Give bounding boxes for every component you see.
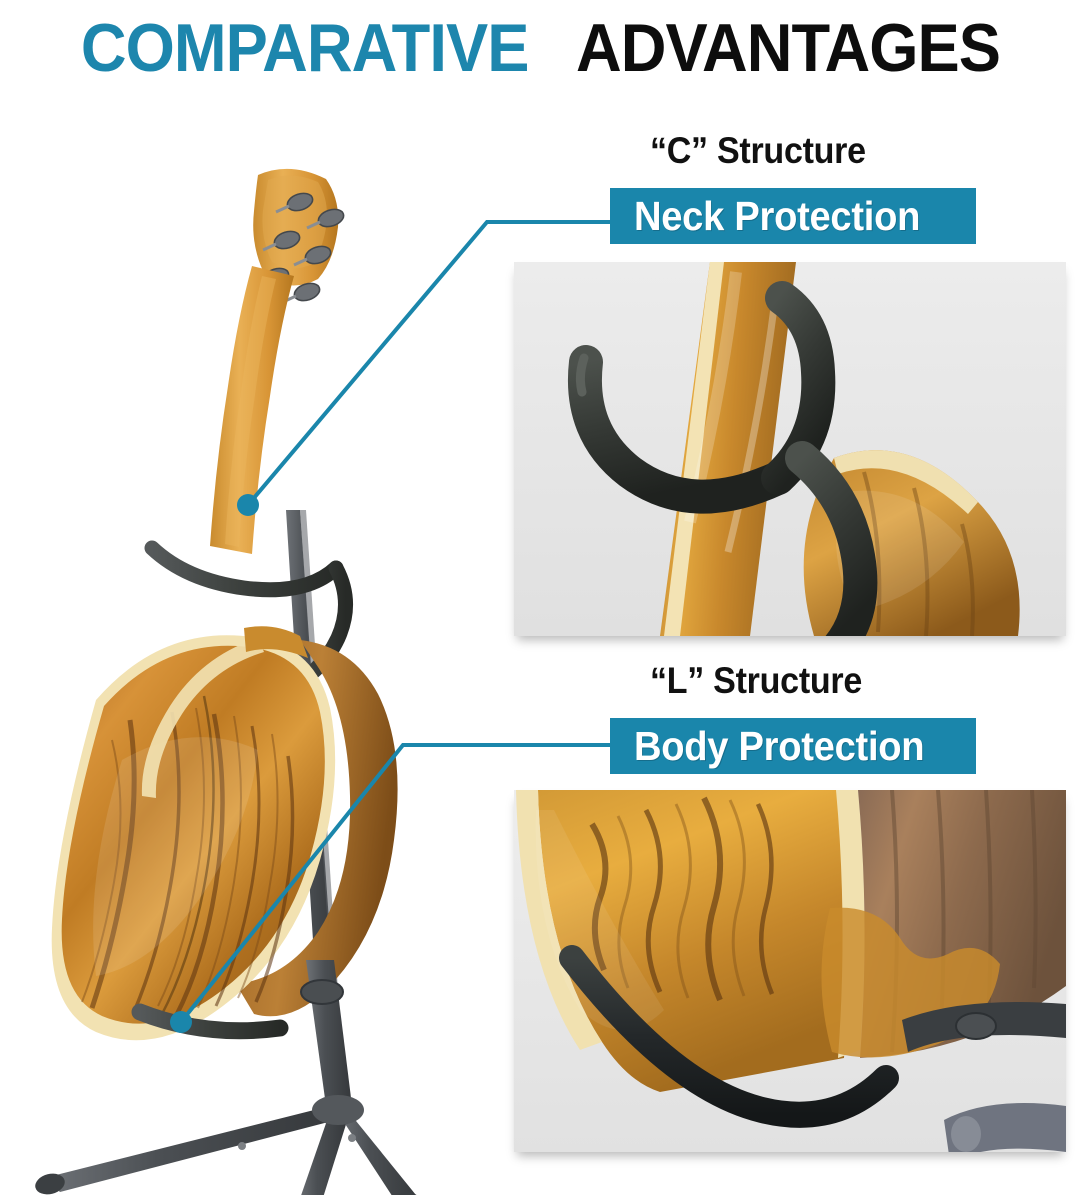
body-closeup-illustration bbox=[514, 790, 1066, 1152]
title-word-advantages: ADVANTAGES bbox=[576, 14, 1000, 82]
detail-photo-neck-protection bbox=[514, 262, 1066, 636]
guitar-neck bbox=[210, 266, 294, 554]
neck-closeup-illustration bbox=[514, 262, 1066, 636]
feature-banner-body-protection: Body Protection bbox=[610, 718, 976, 774]
feature-heading-c-structure: “C” Structure bbox=[650, 130, 866, 172]
banner-label-neck-protection: Neck Protection bbox=[634, 193, 920, 240]
title-word-comparative: COMPARATIVE bbox=[81, 14, 529, 82]
hero-product-image bbox=[0, 80, 520, 1195]
banner-label-body-protection: Body Protection bbox=[634, 723, 924, 770]
feature-banner-neck-protection: Neck Protection bbox=[610, 188, 976, 244]
guitar-body bbox=[52, 626, 398, 1040]
detail-photo-body-protection bbox=[514, 790, 1066, 1152]
page-title: COMPARATIVE ADVANTAGES bbox=[0, 8, 1080, 88]
feature-heading-l-structure: “L” Structure bbox=[650, 660, 862, 702]
neck-closeup-cradle-tip bbox=[580, 358, 584, 392]
